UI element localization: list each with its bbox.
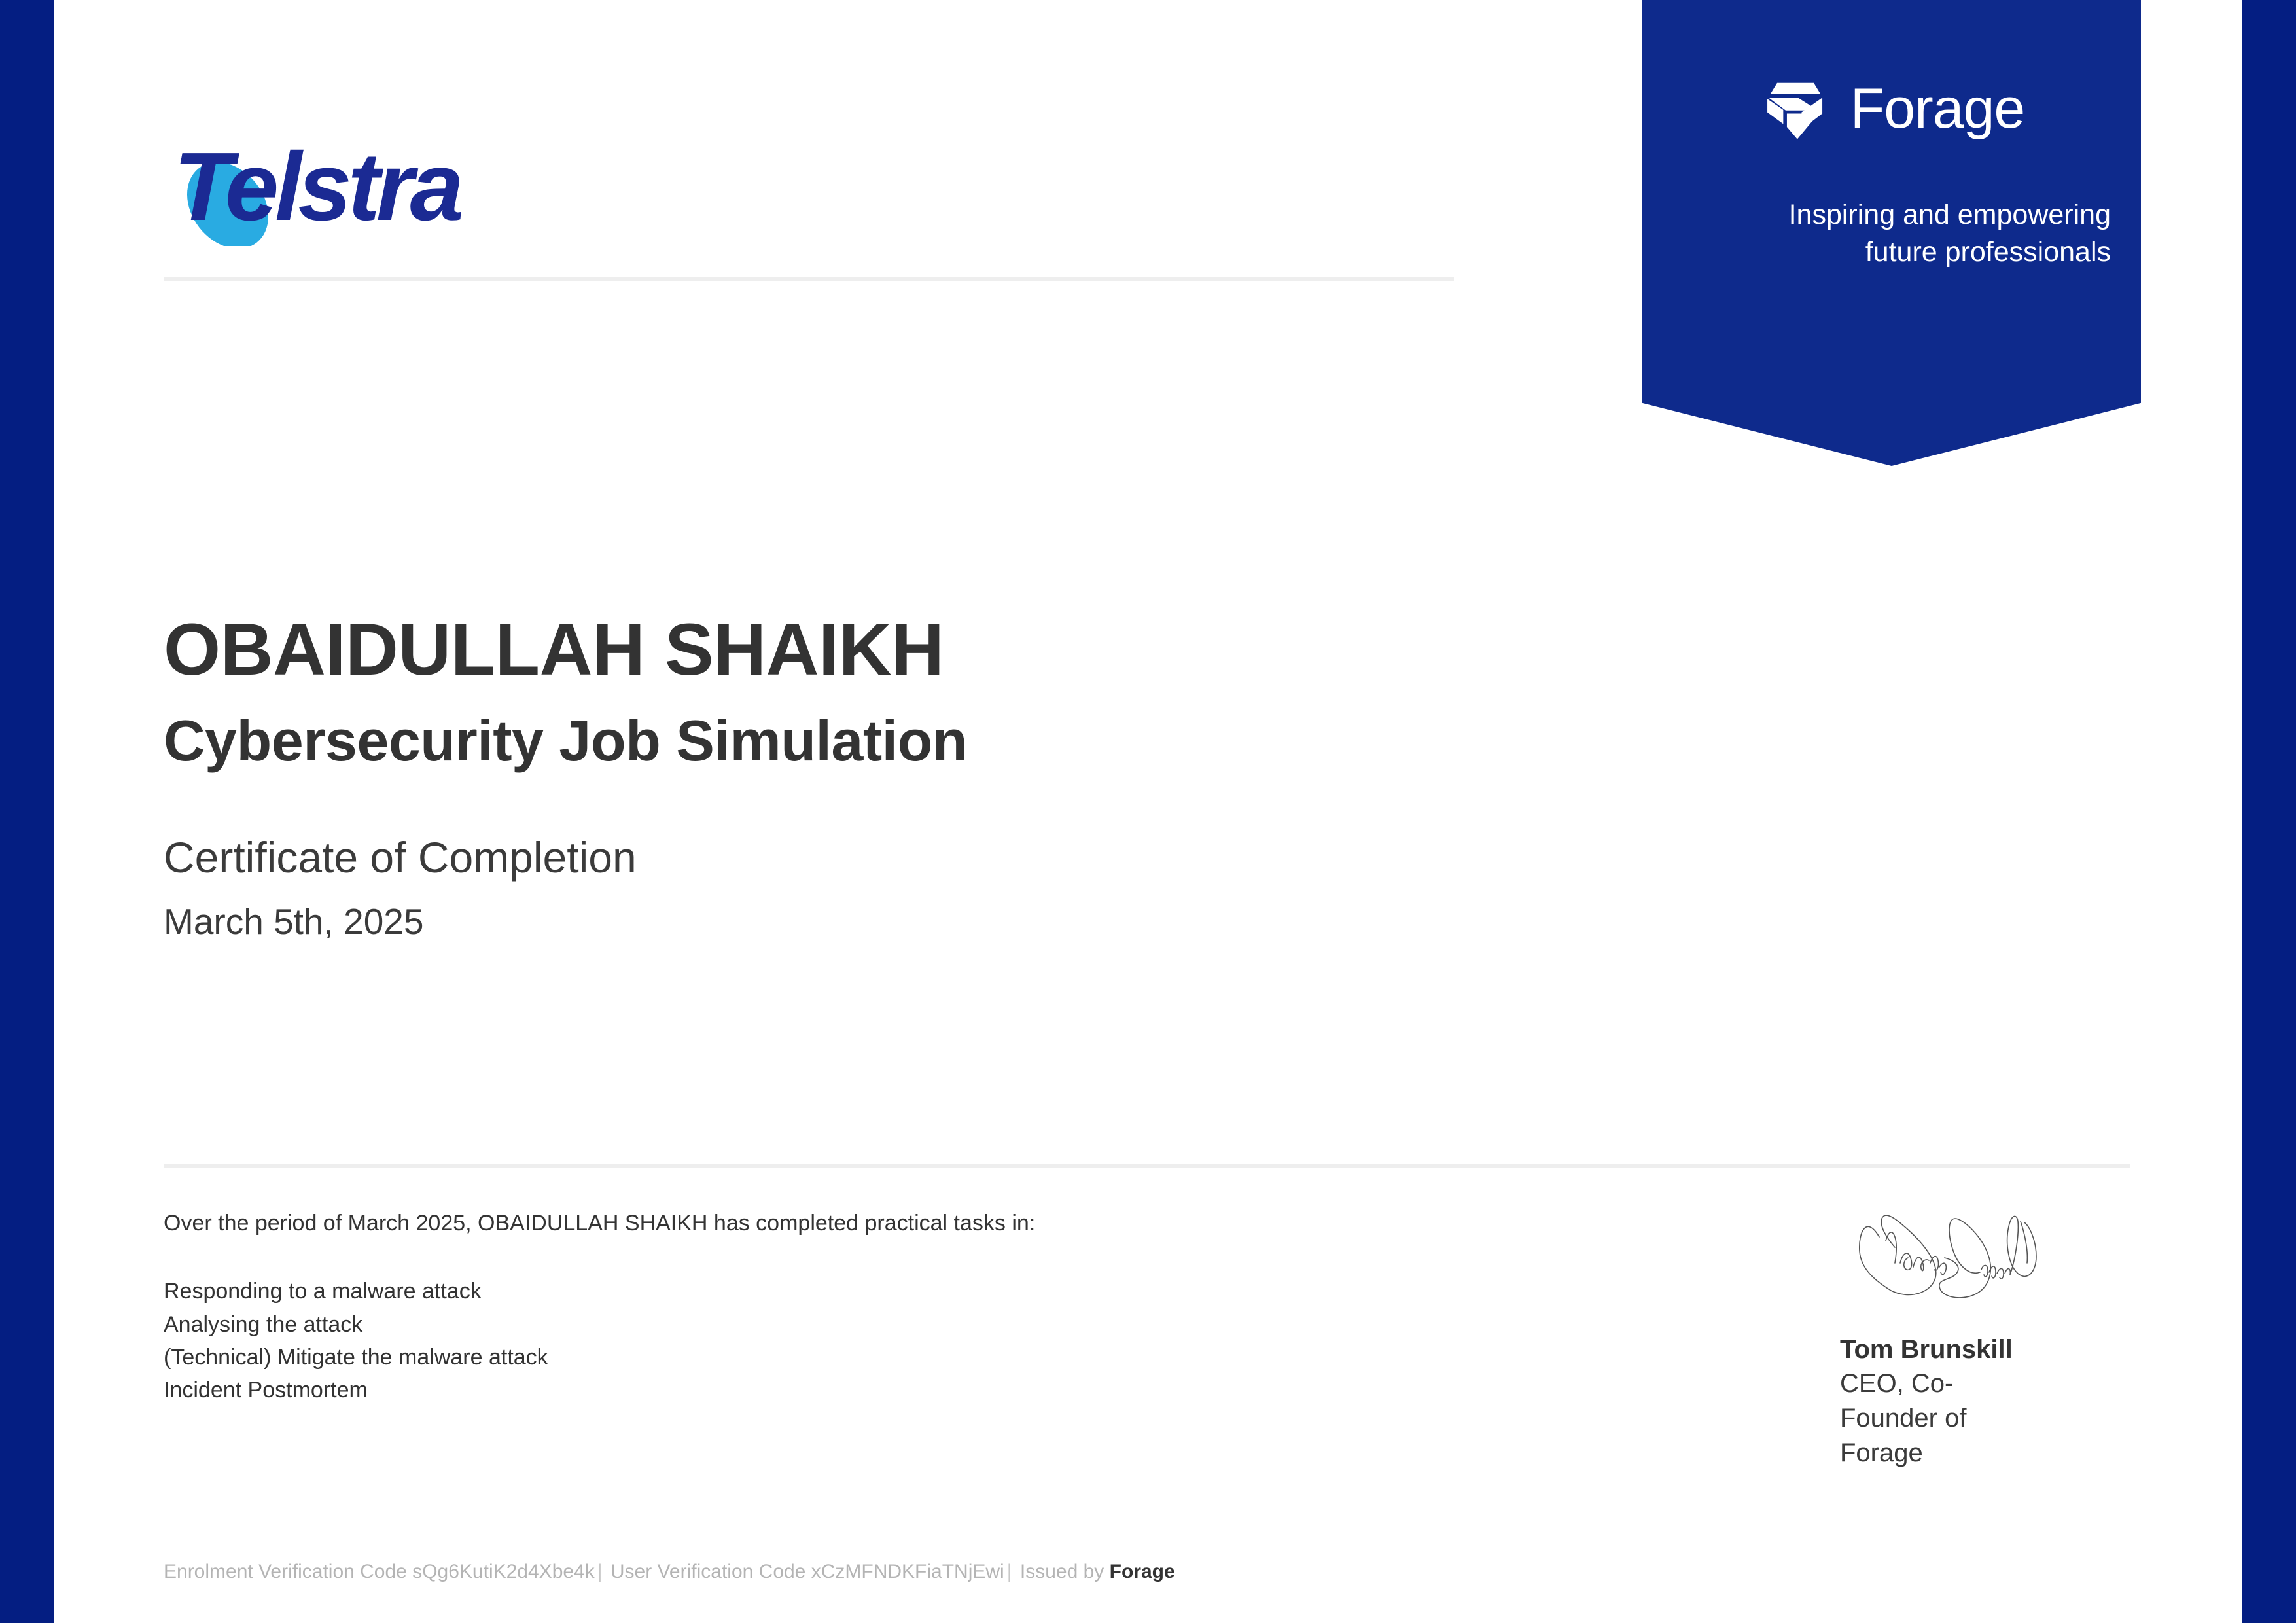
issued-by-label: Issued by — [1020, 1561, 1104, 1583]
handwritten-signature-icon — [1840, 1195, 2089, 1300]
certificate-type: Certificate of Completion — [164, 830, 2127, 885]
signature-block: Tom Brunskill CEO, Co-Founder of Forage — [1840, 1195, 2154, 1470]
enrolment-code-value: sQg6KutiK2d4Xbe4k — [412, 1561, 595, 1583]
user-code-value: xCzMFNDKFiaTNjEwi — [811, 1561, 1004, 1583]
body-divider — [164, 1164, 2130, 1168]
task-item: (Technical) Mitigate the malware attack — [164, 1341, 1341, 1374]
forage-wordmark: Forage — [1850, 80, 2025, 137]
enrolment-code-label: Enrolment Verification Code — [164, 1561, 407, 1583]
footer-separator-2: | — [1004, 1561, 1015, 1583]
certificate-page: Telstra Forage Inspiring and — [0, 0, 2296, 1623]
task-item: Incident Postmortem — [164, 1374, 1341, 1406]
recipient-name: OBAIDULLAH SHAIKH — [164, 609, 2127, 690]
forage-tagline-line-1: Inspiring and empowering — [1672, 196, 2111, 234]
svg-text:Telstra: Telstra — [173, 133, 461, 241]
tasks-list: Responding to a malware attack Analysing… — [164, 1275, 1341, 1406]
footer-issuer-brand: Forage — [1110, 1561, 1175, 1583]
certificate-body: OBAIDULLAH SHAIKH Cybersecurity Job Simu… — [164, 609, 2127, 944]
user-code-label: User Verification Code — [610, 1561, 805, 1583]
certificate-date: March 5th, 2025 — [164, 899, 2127, 944]
task-item: Analysing the attack — [164, 1308, 1341, 1341]
task-item: Responding to a malware attack — [164, 1275, 1341, 1308]
header-divider — [164, 277, 1454, 281]
footer-separator-1: | — [595, 1561, 605, 1583]
forage-gem-icon — [1759, 72, 1832, 145]
forage-lockup: Forage — [1672, 0, 2111, 145]
signer-role: CEO, Co-Founder of Forage — [1840, 1366, 2004, 1470]
tasks-intro: Over the period of March 2025, OBAIDULLA… — [164, 1207, 1341, 1240]
telstra-logo: Telstra — [160, 128, 527, 246]
footer: Enrolment Verification Code sQg6KutiK2d4… — [164, 1561, 1175, 1583]
forage-banner: Forage Inspiring and empowering future p… — [1642, 0, 2141, 466]
program-title: Cybersecurity Job Simulation — [164, 706, 2127, 776]
tasks-block: Over the period of March 2025, OBAIDULLA… — [164, 1207, 1341, 1407]
left-edge-bar — [0, 0, 54, 1623]
signer-name: Tom Brunskill — [1840, 1332, 2154, 1366]
forage-tagline: Inspiring and empowering future professi… — [1672, 196, 2111, 271]
right-edge-bar — [2242, 0, 2296, 1623]
forage-tagline-line-2: future professionals — [1672, 234, 2111, 271]
